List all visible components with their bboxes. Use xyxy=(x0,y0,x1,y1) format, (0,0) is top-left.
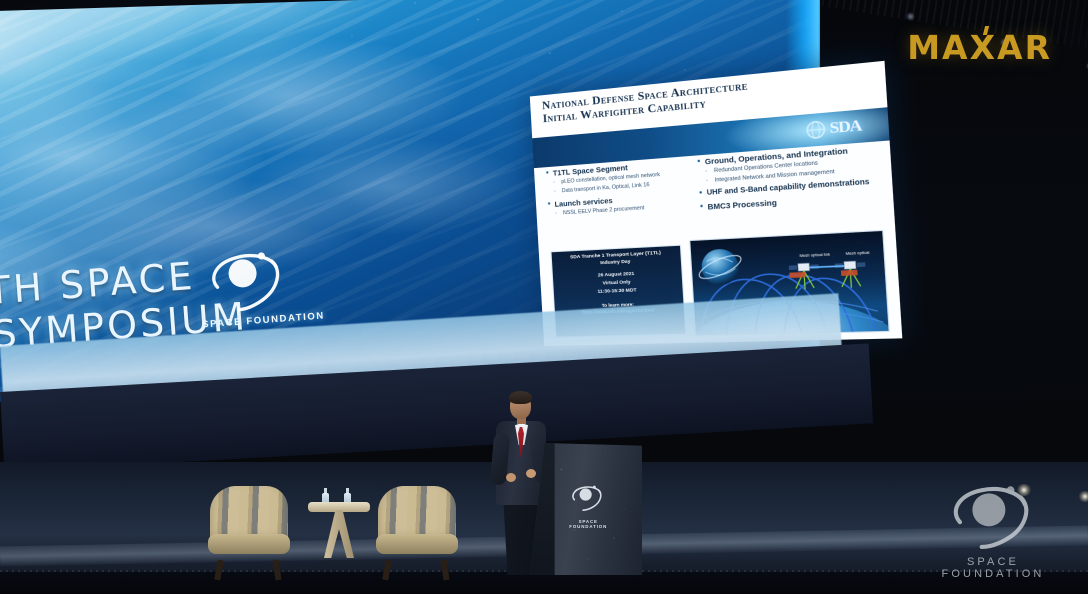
speaker-hand-left xyxy=(506,473,516,482)
speaker-hand-right xyxy=(526,469,536,478)
podium-logo-label: SPACE FOUNDATION xyxy=(560,519,616,529)
armchair-right xyxy=(374,486,460,566)
svg-text:Mesh optical link: Mesh optical link xyxy=(799,252,830,258)
maxar-text-part3: AR xyxy=(997,28,1052,67)
podium-logo: SPACE FOUNDATION xyxy=(560,483,616,529)
watermark-label: SPACE FOUNDATION xyxy=(918,556,1068,580)
maxar-logo: MA X AR xyxy=(907,28,1052,67)
sda-wordmark: SDA xyxy=(829,117,862,138)
stage-scene: TH SPACE SYMPOSIUM SPACE FOUNDATION Nati… xyxy=(0,0,1088,594)
maxar-x-glyph: X xyxy=(970,28,997,67)
ceiling-light-1 xyxy=(906,12,915,21)
space-foundation-watermark: SPACE FOUNDATION xyxy=(918,483,1068,580)
chair-seat xyxy=(208,534,290,554)
slide-left-column: T1TL Space Segment pLEO constellation, o… xyxy=(546,157,703,220)
speaker-hair xyxy=(509,391,532,404)
space-foundation-logo-icon xyxy=(201,248,297,319)
slide-right-column: Ground, Operations, and Integration Redu… xyxy=(697,143,889,214)
table-pedestal xyxy=(324,510,354,558)
svg-text:Mesh optical: Mesh optical xyxy=(846,250,870,256)
side-table xyxy=(308,488,370,564)
armchair-left xyxy=(206,486,292,566)
sda-logo: SDA xyxy=(803,110,882,145)
sda-globe-icon xyxy=(804,118,828,142)
space-foundation-logo-icon xyxy=(945,483,1041,549)
chair-seat xyxy=(376,534,458,554)
stage-spotlight-2 xyxy=(1078,491,1088,502)
space-foundation-logo-icon xyxy=(568,483,608,513)
maxar-text-part1: MA xyxy=(907,28,969,67)
podium: SPACE FOUNDATION xyxy=(530,443,642,575)
